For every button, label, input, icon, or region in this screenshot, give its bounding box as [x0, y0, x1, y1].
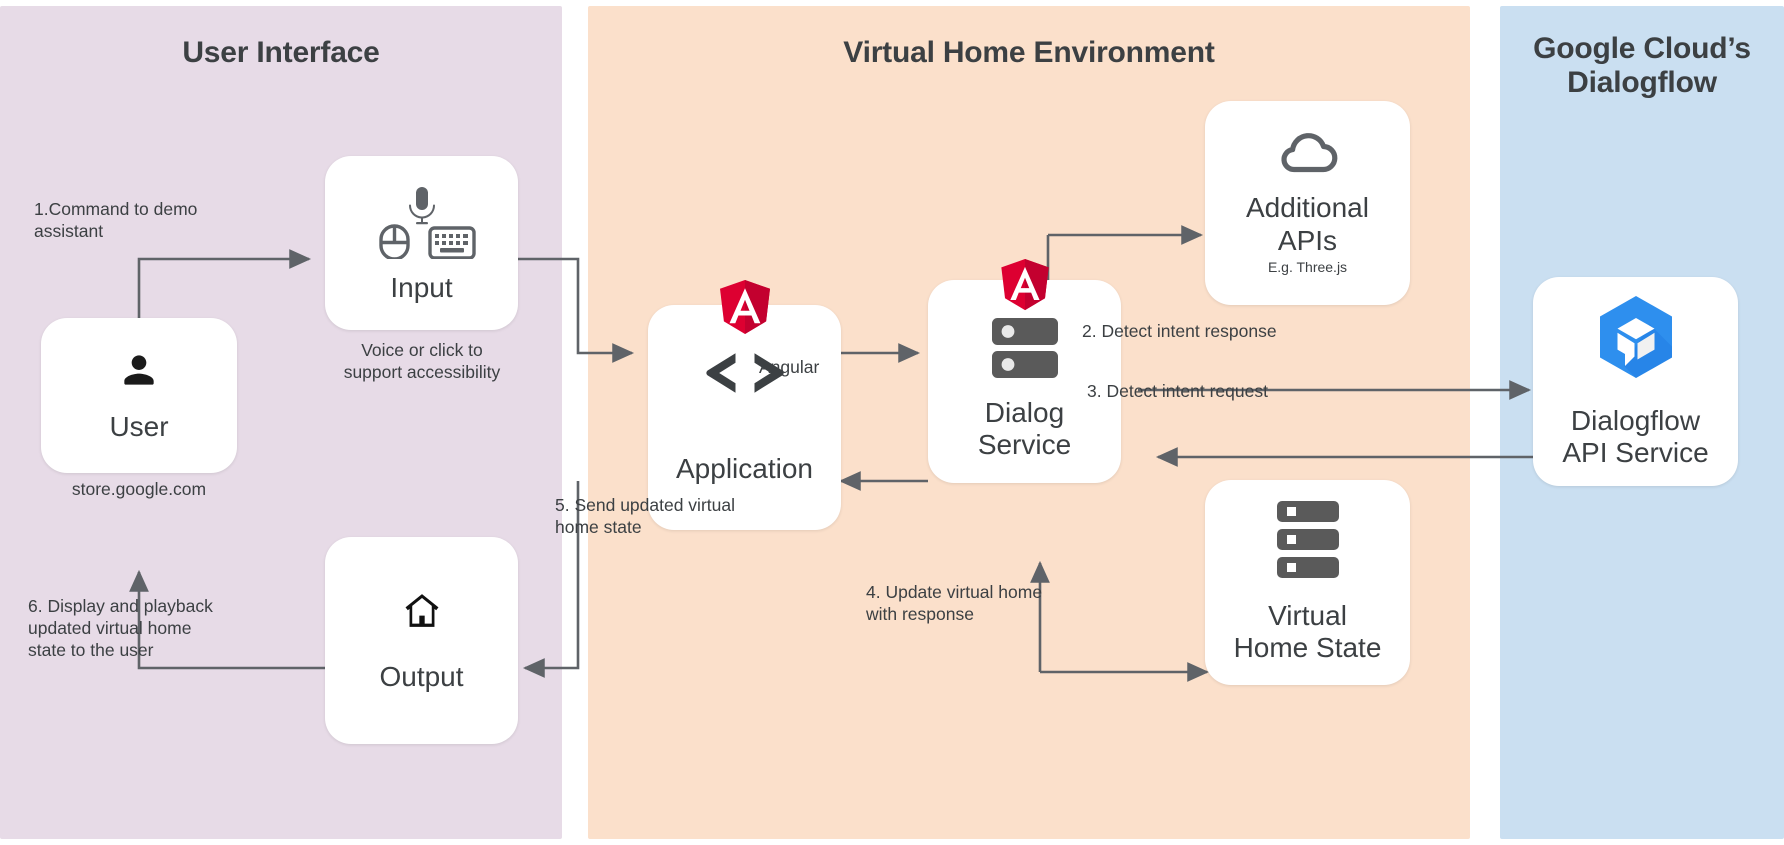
- node-user[interactable]: User: [41, 318, 237, 473]
- node-user-label: User: [109, 411, 168, 443]
- dialogflow-logo: [1593, 294, 1679, 391]
- node-dialog-service-label-line2: Service: [978, 429, 1071, 461]
- node-virtual-home-state-label-line2: Home State: [1234, 632, 1382, 664]
- annotation-step-1: 1.Command to demo assistant: [34, 198, 264, 242]
- panel-title-user-interface: User Interface: [0, 36, 562, 70]
- node-virtual-home-state-label-line1: Virtual: [1268, 600, 1347, 632]
- node-input-label: Input: [390, 272, 452, 304]
- angular-logo-dialog-service: [998, 258, 1051, 315]
- annotation-step-3: 3. Detect intent request: [1087, 380, 1487, 402]
- person-icon: [117, 348, 161, 397]
- node-dialogflow-api-service[interactable]: Dialogflow API Service: [1533, 277, 1738, 486]
- database-rack-icon: [1277, 501, 1339, 584]
- node-input[interactable]: Input: [325, 156, 518, 330]
- panel-title-google-cloud-line1: Google Cloud’s: [1500, 32, 1784, 66]
- node-output[interactable]: Output: [325, 537, 518, 744]
- server-icon: [992, 316, 1058, 385]
- annotation-store-url: store.google.com: [34, 478, 244, 500]
- microphone-mouse-keyboard-icon: [367, 181, 477, 264]
- node-additional-apis[interactable]: Additional APIs E.g. Three.js: [1205, 101, 1410, 305]
- node-virtual-home-state[interactable]: Virtual Home State: [1205, 480, 1410, 685]
- node-additional-apis-label-line1: Additional: [1246, 192, 1369, 224]
- node-dialogflow-api-label-line1: Dialogflow: [1571, 405, 1700, 437]
- cloud-icon: [1276, 131, 1340, 180]
- node-dialog-service-label-line1: Dialog: [985, 397, 1064, 429]
- annotation-angular: Angular: [759, 356, 879, 378]
- home-icon: [399, 588, 445, 639]
- annotation-input-caption: Voice or click to support accessibility: [287, 339, 557, 383]
- annotation-step-4: 4. Update virtual home with response: [866, 581, 1126, 625]
- annotation-step-6: 6. Display and playback updated virtual …: [28, 595, 278, 662]
- node-dialogflow-api-label-line2: API Service: [1562, 437, 1708, 469]
- angular-logo-application: [717, 279, 773, 339]
- annotation-step-5: 5. Send updated virtual home state: [555, 494, 805, 538]
- architecture-diagram: User Interface Virtual Home Environment …: [0, 0, 1784, 845]
- panel-title-virtual-home-environment: Virtual Home Environment: [588, 36, 1470, 70]
- annotation-step-2: 2. Detect intent response: [1082, 320, 1482, 342]
- node-application-label: Application: [676, 453, 813, 485]
- node-additional-apis-sublabel: E.g. Three.js: [1268, 259, 1347, 275]
- panel-title-google-cloud-line2: Dialogflow: [1500, 66, 1784, 100]
- node-output-label: Output: [379, 661, 463, 693]
- node-additional-apis-label-line2: APIs: [1278, 225, 1337, 257]
